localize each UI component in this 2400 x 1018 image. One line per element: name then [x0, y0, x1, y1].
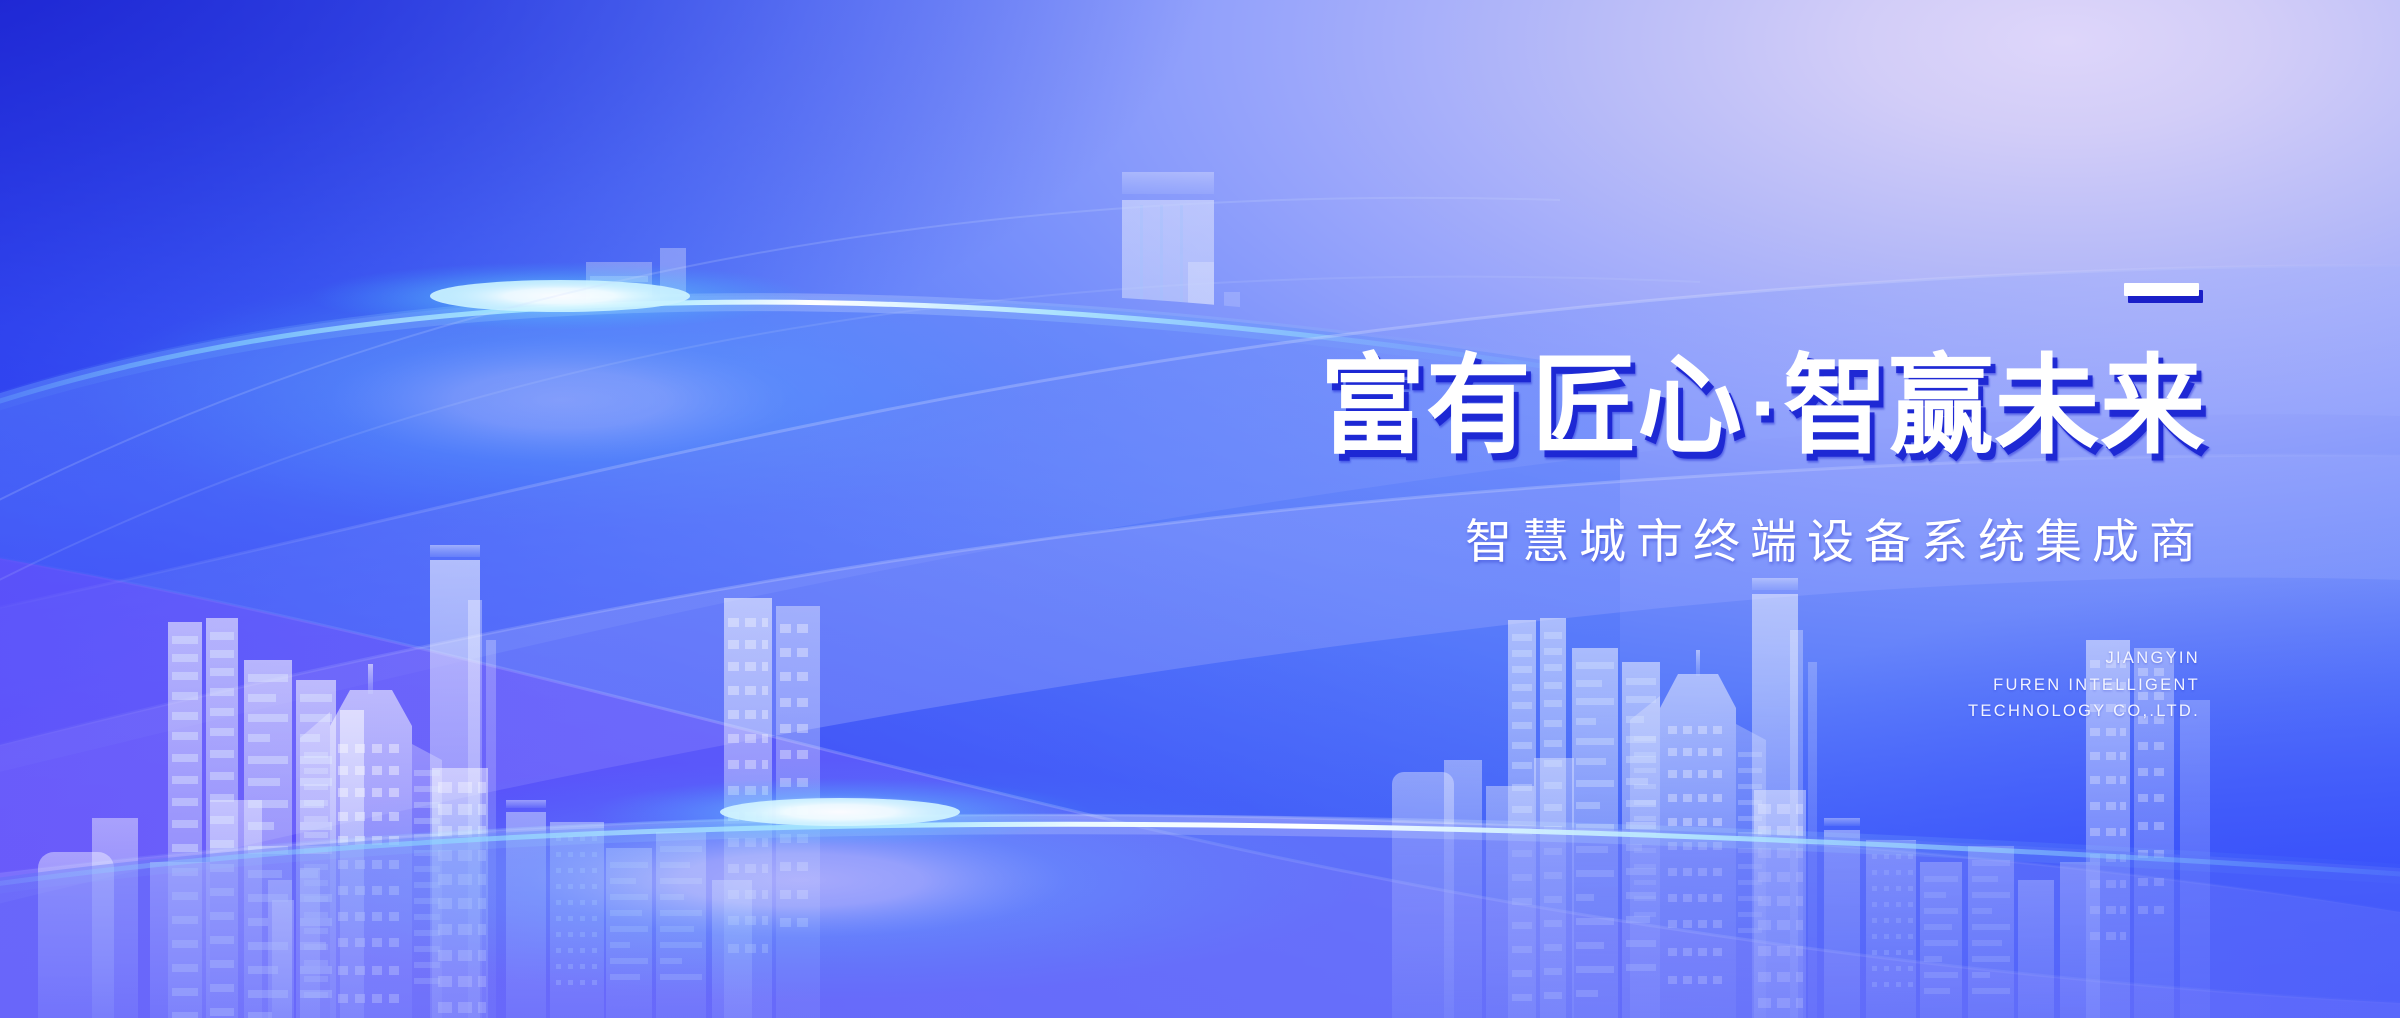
promo-banner: 富有匠心·智赢未来 智慧城市终端设备系统集成商 JIANGYIN FUREN I…: [0, 0, 2400, 1018]
lower-city-scene: [0, 0, 2400, 1018]
lower-arc-hotspot-glow: [590, 778, 1090, 846]
